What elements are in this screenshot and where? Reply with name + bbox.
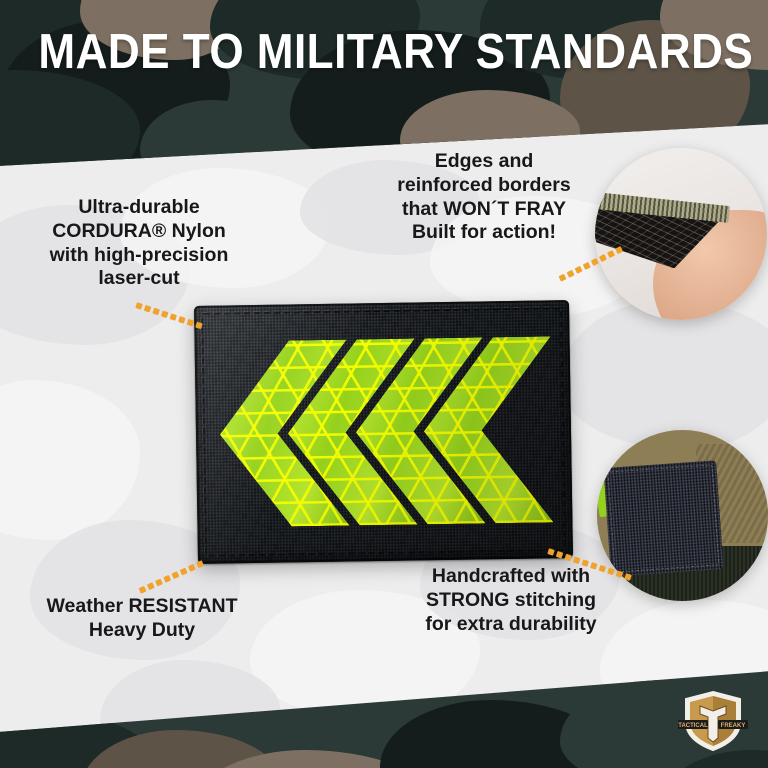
connector-dot: [558, 274, 566, 282]
connector-dot: [564, 554, 572, 562]
connector-dot: [147, 582, 155, 590]
brand-logo[interactable]: TACTICAL FREAKY: [676, 690, 750, 752]
connector-dot: [144, 305, 152, 313]
callout-line: that WON´T FRAY: [350, 198, 618, 222]
callout-line: STRONG stitching: [382, 589, 640, 613]
callout-line: Ultra-durable: [8, 196, 270, 220]
connector-dot: [195, 322, 203, 330]
connector-dot: [556, 551, 564, 559]
connector-dot: [187, 319, 195, 327]
connector-dot: [169, 313, 177, 321]
callout-line: Weather RESISTANT: [8, 595, 276, 619]
callout-line: Built for action!: [350, 221, 618, 245]
callout-line: CORDURA® Nylon: [8, 220, 270, 244]
patch-edge: [194, 300, 573, 564]
navy-patch-corner: [604, 460, 724, 577]
connector-dot: [155, 579, 163, 587]
connector-dot: [567, 270, 575, 278]
panel-ghost-shape: [560, 300, 768, 450]
connector-dot: [590, 562, 598, 570]
connector-dot: [615, 246, 623, 254]
connector-dot: [573, 557, 581, 565]
brand-name-bottom: FREAKY: [721, 723, 746, 729]
connector-dot: [188, 564, 196, 572]
connector-dot: [591, 258, 599, 266]
callout-line: Edges and: [350, 150, 618, 174]
brand-name-top: TACTICAL: [678, 723, 708, 729]
callout-line: Heavy Duty: [8, 619, 276, 643]
panel-ghost-shape: [0, 380, 140, 540]
callout-edges: Edges and reinforced borders that WON´T …: [350, 150, 618, 245]
connector-dot: [180, 568, 188, 576]
connector-dot: [547, 548, 555, 556]
callout-weather: Weather RESISTANT Heavy Duty: [8, 595, 276, 643]
callout-material: Ultra-durable CORDURA® Nylon with high-p…: [8, 196, 270, 291]
callout-line: laser-cut: [8, 267, 270, 291]
connector-dot: [152, 308, 160, 316]
page-title: MADE TO MILITARY STANDARDS: [38, 28, 729, 77]
connector-dot: [139, 586, 147, 594]
connector-dot: [583, 262, 591, 270]
connector-dot: [135, 302, 143, 310]
connector-dot: [599, 254, 607, 262]
connector-dot: [581, 559, 589, 567]
callout-line: for extra durability: [382, 613, 640, 637]
connector-dot: [178, 316, 186, 324]
connector-dot: [616, 570, 624, 578]
callout-line: reinforced borders: [350, 174, 618, 198]
connector-dot: [599, 565, 607, 573]
connector-dot: [575, 266, 583, 274]
callout-stitching: Handcrafted with STRONG stitching for ex…: [382, 565, 640, 636]
callout-line: with high-precision: [8, 244, 270, 268]
inset-velcro-edge-closeup[interactable]: [595, 148, 767, 320]
connector-dot: [171, 571, 179, 579]
connector-dot: [196, 560, 204, 568]
connector-dot: [607, 250, 615, 258]
connector-dot: [163, 575, 171, 583]
product-patch[interactable]: [194, 300, 573, 564]
connector-dot: [161, 311, 169, 319]
connector-dot: [607, 568, 615, 576]
shield-icon: TACTICAL FREAKY: [676, 690, 750, 752]
infographic-canvas: MADE TO MILITARY STANDARDS: [0, 0, 768, 768]
